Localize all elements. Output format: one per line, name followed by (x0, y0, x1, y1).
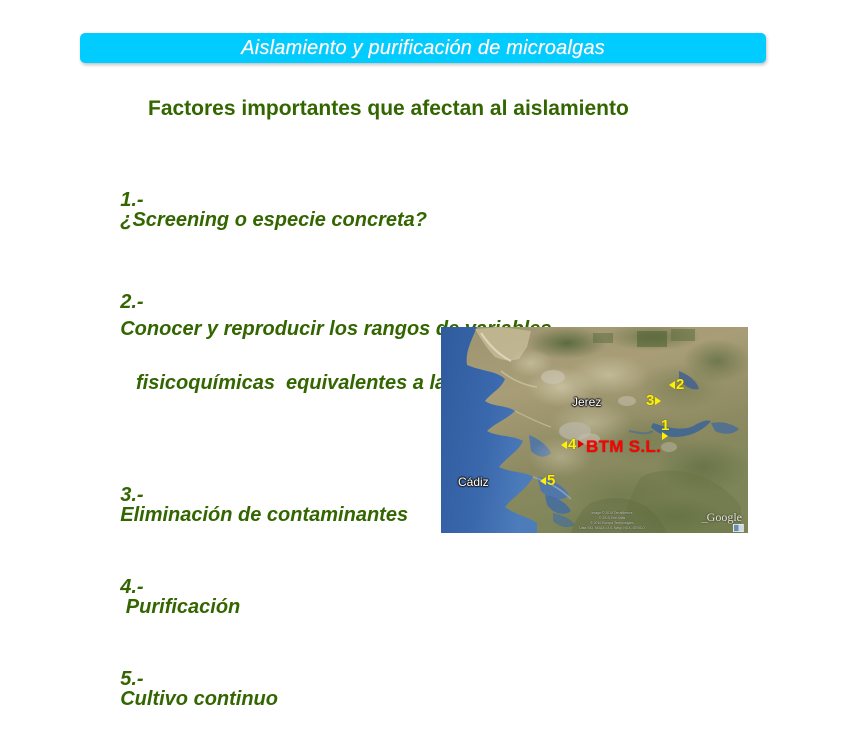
list-item-label: Purificación (120, 596, 240, 618)
map-marker-label: 2 (676, 377, 684, 392)
page-title: Factores importantes que afectan al aisl… (148, 97, 629, 121)
list-item-number: 2.- (120, 291, 143, 313)
map-marker-btm[interactable] (578, 440, 584, 448)
slide-root: { "slide": { "banner_title": "Aislamient… (0, 0, 848, 599)
list-item-number: 1.- (120, 189, 143, 211)
map-scale-indicator (733, 524, 744, 532)
list-item-label: ¿Screening o especie concreta? (120, 209, 427, 231)
pin-arrow-icon (540, 477, 546, 485)
map-satellite-imagery (441, 327, 748, 533)
list-item-label: Eliminación de contaminantes (120, 504, 408, 526)
map-marker-2[interactable]: 2 (669, 377, 684, 392)
pin-arrow-icon (662, 432, 668, 440)
pin-arrow-icon (578, 440, 584, 448)
list-item-label: Cultivo continuo (120, 688, 278, 710)
list-item-number: 4.- (120, 576, 143, 598)
pin-arrow-icon (561, 441, 567, 449)
map-attribution-text: Image © 2010 TerraMetrics © 2010 Tele At… (537, 511, 687, 531)
pin-arrow-icon (655, 397, 661, 405)
map-marker-label: 1 (661, 418, 669, 433)
map-marker-label: 3 (646, 393, 654, 408)
list-item: 5.- Cultivo continuo (98, 649, 788, 729)
map-marker-1[interactable]: 1 (661, 418, 669, 440)
map-marker-4[interactable]: 4 (561, 437, 576, 452)
map-marker-5[interactable]: 5 (540, 473, 555, 488)
watermark-dash-icon: _ (702, 510, 707, 524)
map-company-label-btm: BTM S.L. (586, 438, 661, 455)
list-item-number: 5.- (120, 668, 143, 690)
list-item: 1.- ¿Screening o especie concreta? (98, 170, 788, 250)
google-watermark: _Google (702, 510, 742, 525)
pin-arrow-icon (669, 381, 675, 389)
list-item: 4.- Purificación (98, 557, 788, 637)
map-marker-3[interactable]: 3 (646, 393, 661, 408)
list-item-number: 3.- (120, 484, 143, 506)
slide-title-banner: Aislamiento y purificación de microalgas (80, 33, 766, 63)
map-marker-label: 5 (547, 473, 555, 488)
map-marker-label: 4 (568, 437, 576, 452)
slide-title-text: Aislamiento y purificación de microalgas (241, 37, 605, 60)
satellite-map-image: Jerez Cádiz 2 3 1 4 5 BTM S.L. Image © 2… (441, 327, 748, 533)
watermark-text: Google (707, 510, 742, 524)
